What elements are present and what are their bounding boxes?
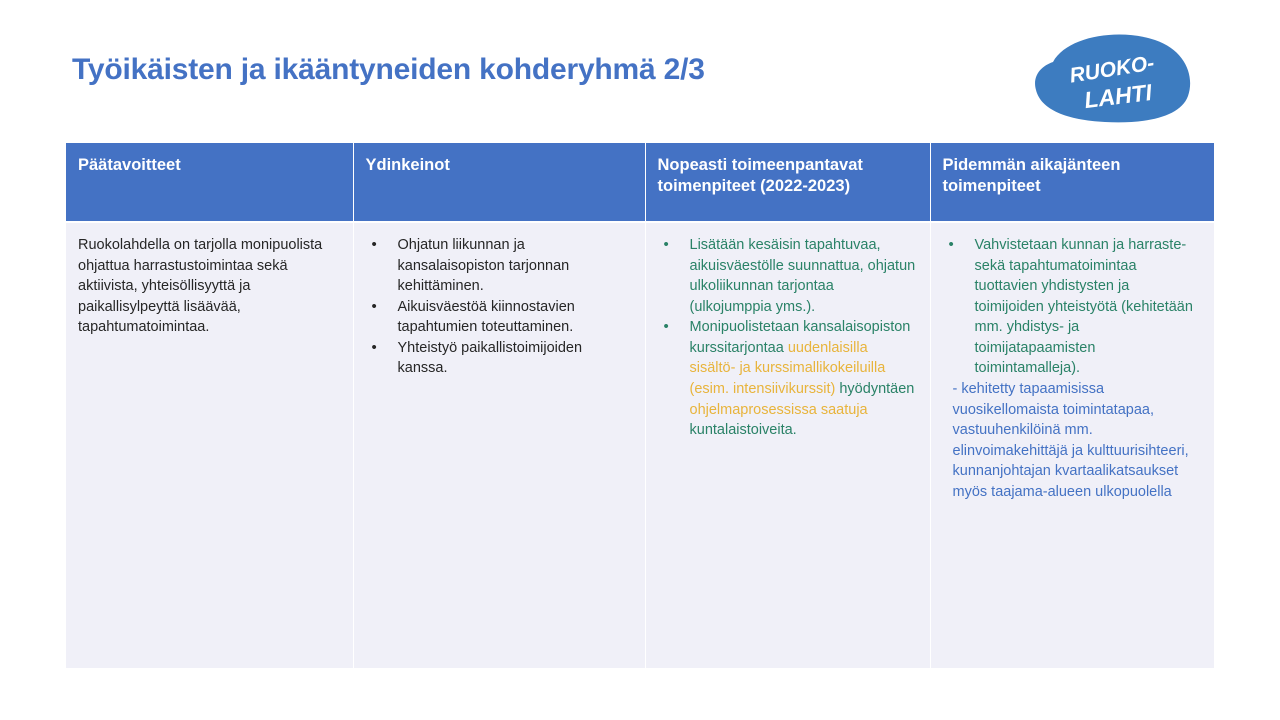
page-title: Työikäisten ja ikääntyneiden kohderyhmä … xyxy=(72,52,972,88)
column-header-nopeasti-toimeenpantavat: Nopeasti toimeenpantavat toimenpiteet (2… xyxy=(645,143,930,222)
bullet2-segment-plain-3: kuntalaistoiveita. xyxy=(690,422,797,438)
cell-paatavoitteet: Ruokolahdella on tarjolla monipuolista o… xyxy=(66,222,353,668)
list-item: Ohjatun liikunnan ja kansalaisopiston ta… xyxy=(366,235,633,297)
column-header-paatavoitteet: Päätavoitteet xyxy=(66,143,353,222)
table-row: Ruokolahdella on tarjolla monipuolista o… xyxy=(66,222,1214,668)
ruokolahti-logo: RUOKO- LAHTI xyxy=(1033,32,1195,124)
list-item: Lisätään kesäisin tapahtuvaa, aikuisväes… xyxy=(658,235,918,317)
column-header-ydinkeinot: Ydinkeinot xyxy=(353,143,645,222)
pidemman-note-paragraph: - kehitetty tapaamisissa vuosikellomaist… xyxy=(943,379,1203,502)
ydinkeinot-bullet-list: Ohjatun liikunnan ja kansalaisopiston ta… xyxy=(366,235,633,379)
table-header-row: Päätavoitteet Ydinkeinot Nopeasti toimee… xyxy=(66,143,1214,222)
list-item: Monipuolistetaan kansalaisopiston kurssi… xyxy=(658,317,918,440)
list-item: Aikuisväestöä kiinnostavien tapahtumien … xyxy=(366,297,633,338)
nopeasti-bullet-list: Lisätään kesäisin tapahtuvaa, aikuisväes… xyxy=(658,235,918,441)
list-item: Yhteistyö paikallistoimijoiden kanssa. xyxy=(366,338,633,379)
column-header-pidemman-aikajanteen: Pidemmän aikajänteen toimenpiteet xyxy=(930,143,1214,222)
paatavoitteet-paragraph: Ruokolahdella on tarjolla monipuolista o… xyxy=(78,235,341,338)
bullet2-segment-highlight-2: ohjelmaprosessissa saatuja xyxy=(690,402,868,418)
cell-pidemman-aikajanteen: Vahvistetaan kunnan ja harraste- sekä ta… xyxy=(930,222,1214,668)
list-item: Vahvistetaan kunnan ja harraste- sekä ta… xyxy=(943,235,1203,379)
pidemman-bullet-list: Vahvistetaan kunnan ja harraste- sekä ta… xyxy=(943,235,1203,379)
cell-ydinkeinot: Ohjatun liikunnan ja kansalaisopiston ta… xyxy=(353,222,645,668)
bullet2-segment-plain-2: hyödyntäen xyxy=(835,381,914,397)
objectives-table: Päätavoitteet Ydinkeinot Nopeasti toimee… xyxy=(66,143,1214,668)
cell-nopeasti-toimeenpantavat: Lisätään kesäisin tapahtuvaa, aikuisväes… xyxy=(645,222,930,668)
